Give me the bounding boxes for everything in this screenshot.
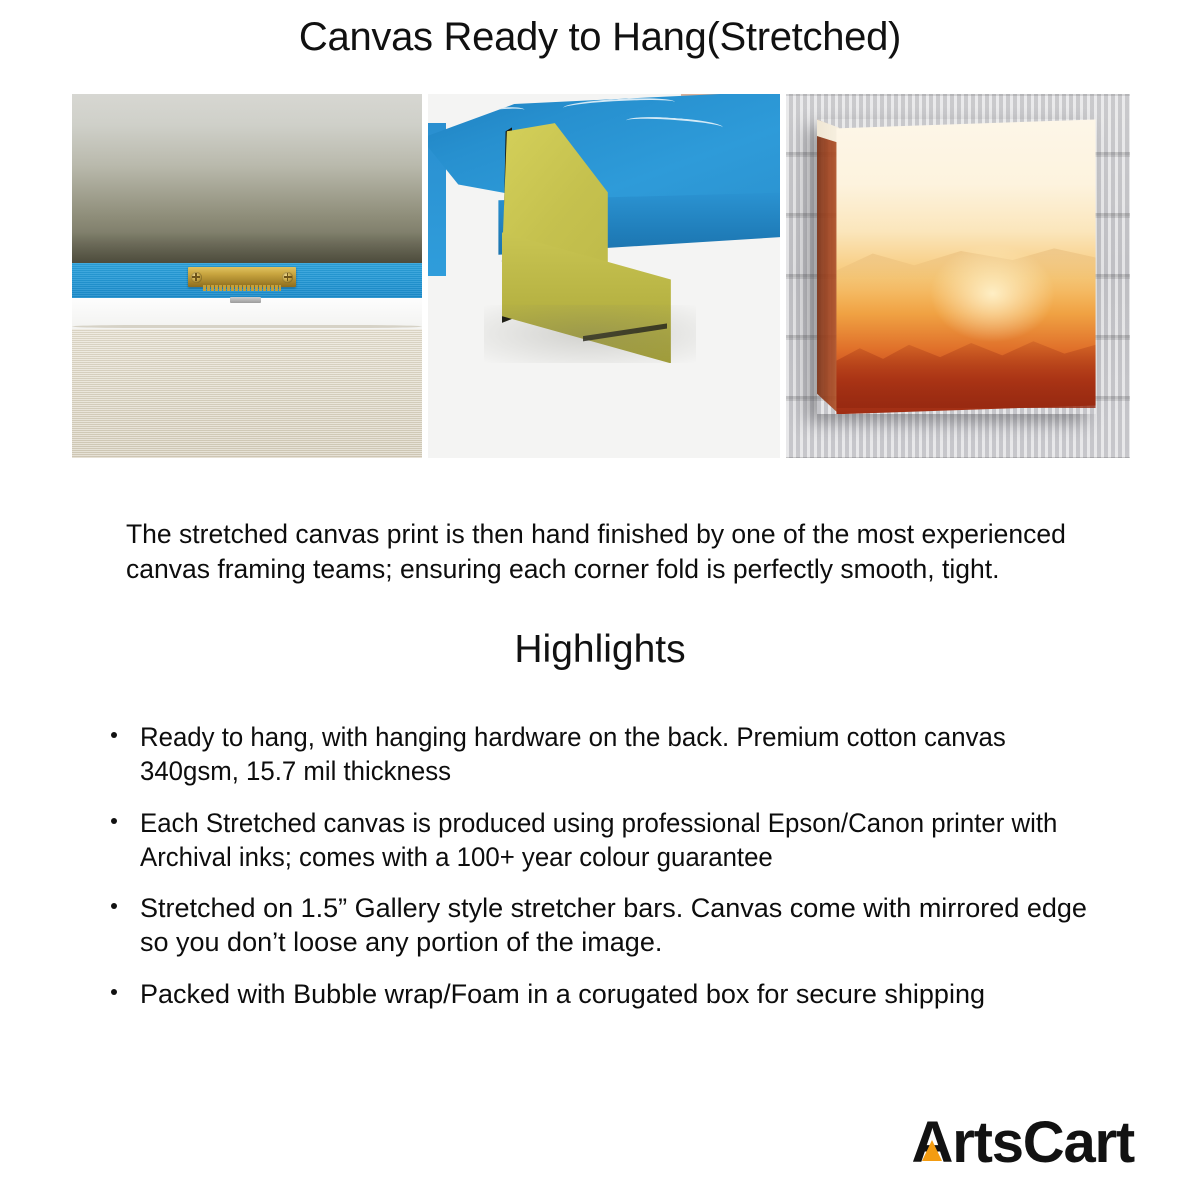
list-item-label: Stretched on 1.5” Gallery style stretche… [140,893,1087,957]
list-item: Ready to hang, with hanging hardware on … [104,720,1114,789]
hanger-teeth [203,285,281,291]
logo-wordmark: rtsCart [952,1114,1134,1172]
list-item-label: Each Stretched canvas is produced using … [140,806,1070,875]
list-item: Packed with Bubble wrap/Foam in a coruga… [104,977,1114,1011]
canvas-fabric-edge [72,325,422,328]
canvas-wrapped-side [817,119,839,414]
intro-paragraph: The stretched canvas print is then hand … [126,517,1066,587]
hanger-screw-left-icon [191,272,202,283]
sawtooth-hanger-icon [188,267,297,287]
bullet-icon [111,818,117,824]
corner-fold-cast-shadow [484,305,695,363]
page-title: Canvas Ready to Hang(Stretched) [0,14,1200,60]
list-item: Each Stretched canvas is produced using … [104,806,1114,875]
highlights-heading: Highlights [0,628,1200,672]
list-item-label: Ready to hang, with hanging hardware on … [140,720,1070,789]
wave-stroke [626,114,724,133]
bullet-icon [111,989,117,995]
image-canvas-corner-fold[interactable] [428,94,780,458]
product-image-strip [72,94,1130,458]
bullet-icon [111,903,117,909]
list-item: Stretched on 1.5” Gallery style stretche… [104,891,1114,960]
highlights-list: Ready to hang, with hanging hardware on … [104,720,1114,1011]
list-item-label: Packed with Bubble wrap/Foam in a coruga… [140,979,985,1009]
logo-letter-a: A [912,1114,953,1172]
artscart-logo[interactable]: A rtsCart [912,1114,1134,1172]
bullet-icon [111,732,117,738]
hanger-clip [230,297,262,303]
image-canvas-back-hanger[interactable] [72,94,422,458]
sunset-glow [928,243,1056,343]
canvas-raw-fabric [72,329,422,458]
hanger-screw-right-icon [282,272,293,283]
logo-triangle-icon [922,1140,942,1161]
hanging-canvas [817,119,1096,414]
image-hanging-canvas-sunset[interactable] [786,94,1130,458]
